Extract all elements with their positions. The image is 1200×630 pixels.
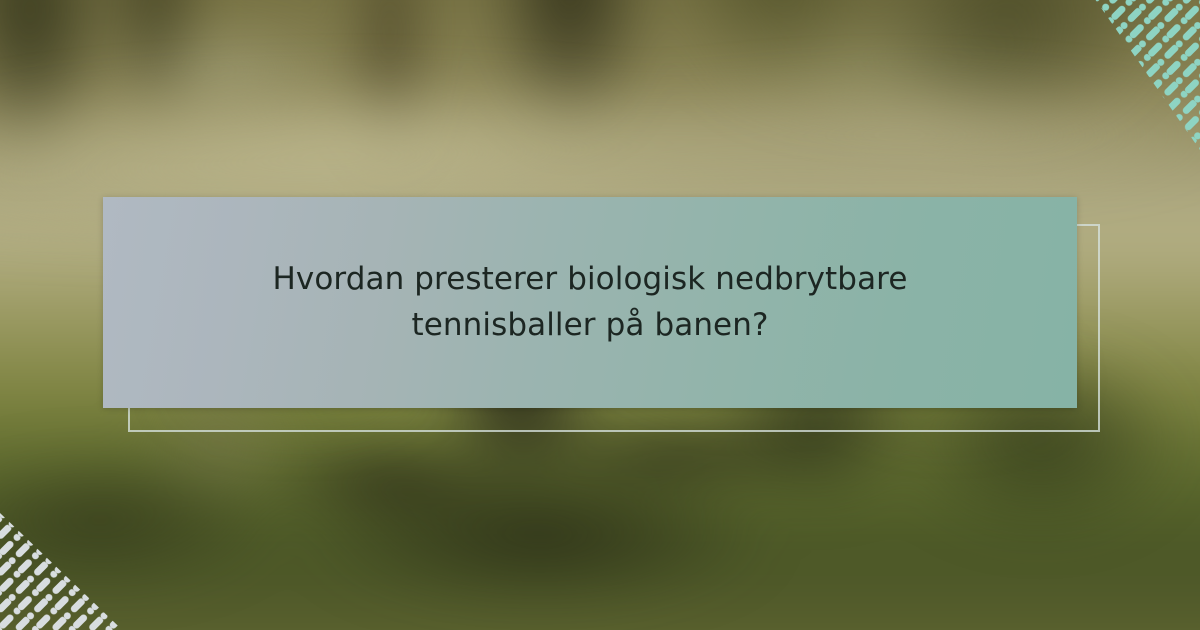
question-title: Hvordan presterer biologisk nedbrytbare … [230, 257, 950, 349]
question-card: Hvordan presterer biologisk nedbrytbare … [103, 197, 1077, 408]
